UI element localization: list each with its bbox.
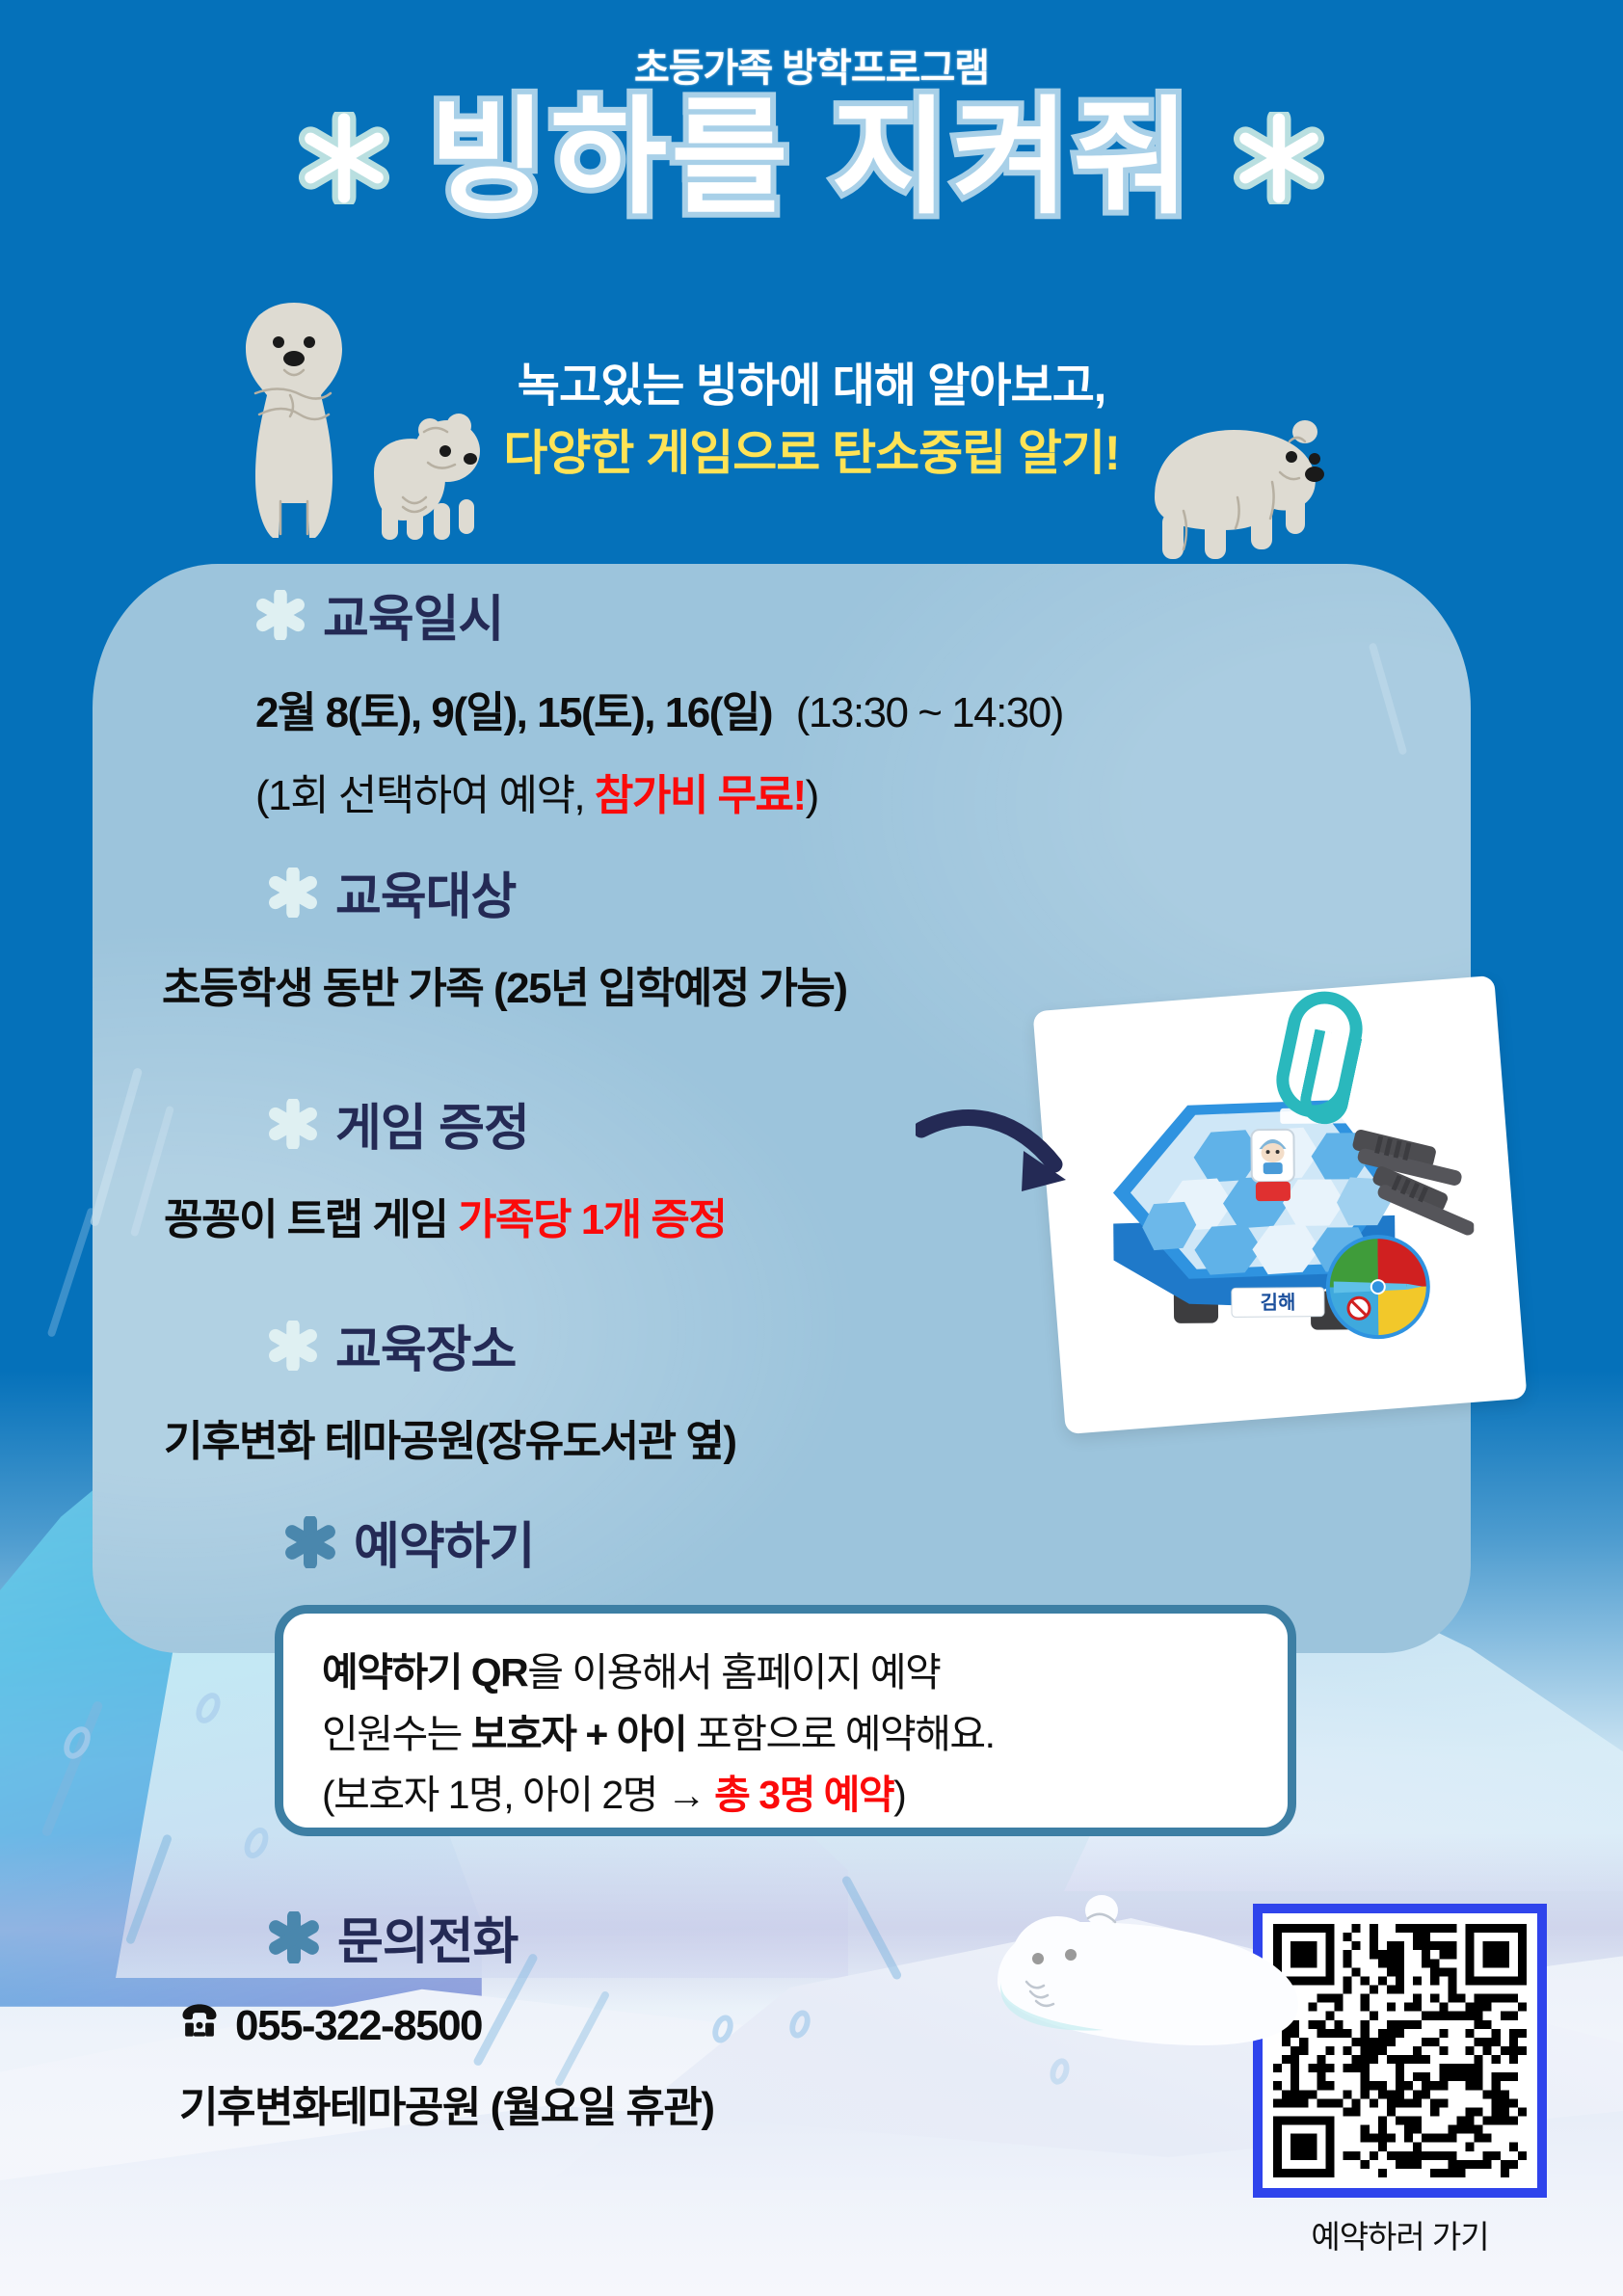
snowflake-icon: [268, 1911, 320, 1963]
snow-bubble: [59, 1722, 96, 1763]
title-row: 빙하를 지켜줘: [0, 85, 1623, 231]
polar-bear-walking-icon: [1145, 405, 1338, 574]
section-contact: 문의전화 055-322-8500 기후변화테마공원 (월요일 휴관): [268, 1901, 714, 2134]
section-heading-label: 문의전화: [337, 1901, 518, 1973]
schedule-dates: 2월 8(토), 9(일), 15(토), 16(일): [255, 689, 772, 736]
reservation-line-2: 인원수는 보호자 + 아이 포함으로 예약해요.: [322, 1704, 1249, 1766]
snowflake-icon: [268, 1099, 318, 1149]
snowflake-icon: [284, 1516, 336, 1568]
phone-number[interactable]: 055-322-8500: [235, 2002, 482, 2050]
reservation-example-prefix: (보호자 1명, 아이 2명 →: [322, 1773, 714, 1817]
snowflake-icon: [268, 1321, 318, 1371]
gift-quantity: 가족당 1개 증정: [458, 1196, 726, 1243]
qr-code-image[interactable]: [1273, 1924, 1527, 2177]
section-heading-label: 예약하기: [354, 1506, 534, 1578]
schedule-time: (13:30 ~ 14:30): [796, 689, 1063, 736]
reservation-line-3: (보호자 1명, 아이 2명 → 총 3명 예약): [322, 1765, 1249, 1827]
snow-streak: [840, 1875, 902, 1981]
section-heading-label: 교육일시: [323, 578, 503, 651]
section-game-gift: 게임 증정 꽁꽁이 트랩 게임 가족당 1개 증정: [268, 1087, 726, 1246]
snowflake-icon: [298, 112, 390, 204]
phone-row: 055-322-8500: [179, 2000, 714, 2051]
section-location: 교육장소 기후변화 테마공원(장유도서관 옆): [268, 1309, 735, 1468]
schedule-dates-line: 2월 8(토), 9(일), 15(토), 16(일) (13:30 ~ 14:…: [255, 678, 1063, 739]
section-schedule: 교육일시 2월 8(토), 9(일), 15(토), 16(일) (13:30 …: [255, 578, 1063, 822]
section-heading-row: 문의전화: [268, 1901, 714, 1973]
section-reservation: 예약하기: [284, 1506, 534, 1578]
polar-bear-cub-icon: [364, 403, 490, 552]
section-heading-label: 교육장소: [335, 1309, 516, 1381]
section-heading-row: 게임 증정: [268, 1087, 726, 1160]
section-heading-row: 교육일시: [255, 578, 1063, 651]
page-title: 빙하를 지켜줘: [429, 85, 1193, 231]
gift-name: 꽁꽁이 트랩 게임: [164, 1196, 458, 1243]
snow-streak: [47, 1207, 96, 1338]
snow-bubble: [785, 2007, 813, 2041]
polar-bear-resting-icon: [988, 1889, 1306, 2116]
schedule-note-suffix: ): [806, 772, 818, 819]
curved-arrow-icon: [916, 1108, 1099, 1229]
snow-streak: [125, 1833, 173, 1945]
audience-text: 초등학생 동반 가족 (25년 입학예정 가능): [162, 953, 847, 1015]
telephone-icon: [179, 2000, 220, 2051]
schedule-note-prefix: (1회 선택하여 예약,: [255, 772, 595, 819]
snow-bubble: [191, 1689, 225, 1727]
snowflake-icon: [268, 868, 318, 918]
section-audience: 교육대상 초등학생 동반 가족 (25년 입학예정 가능): [268, 856, 847, 1015]
section-heading-row: 예약하기: [284, 1506, 534, 1578]
schedule-note-line: (1회 선택하여 예약, 참가비 무료!): [255, 761, 1063, 822]
schedule-free-badge: 참가비 무료!: [595, 772, 806, 819]
snowflake-icon: [1233, 112, 1325, 204]
polar-bear-standing-icon: [226, 299, 361, 549]
ice-breaker-board: 김해: [1087, 1058, 1476, 1379]
reservation-headcount-suffix: 포함으로 예약해요.: [686, 1712, 994, 1756]
gift-text-line: 꽁꽁이 트랩 게임 가족당 1개 증정: [164, 1185, 726, 1246]
svg-text:김해: 김해: [1260, 1292, 1295, 1314]
reservation-headcount-emph: 보호자 + 아이: [471, 1712, 686, 1756]
reservation-line-1: 예약하기 QR을 이용해서 홈페이지 예약: [322, 1642, 1249, 1704]
reservation-qr-label: 예약하기 QR: [322, 1650, 527, 1695]
game-photo: 김해: [1032, 975, 1527, 1434]
poster-root: 초등가족 방학프로그램 빙하를 지켜줘: [0, 0, 1623, 2296]
snow-bubble: [240, 1824, 274, 1862]
location-text: 기후변화 테마공원(장유도서관 옆): [164, 1406, 735, 1468]
contact-hours: 기후변화테마공원 (월요일 휴관): [179, 2072, 714, 2134]
reservation-info-box: 예약하기 QR을 이용해서 홈페이지 예약 인원수는 보호자 + 아이 포함으로…: [275, 1605, 1296, 1836]
section-heading-row: 교육장소: [268, 1309, 735, 1381]
section-heading-row: 교육대상: [268, 856, 847, 928]
reservation-example-total: 총 3명 예약: [714, 1773, 893, 1817]
section-heading-label: 교육대상: [335, 856, 516, 928]
reservation-line-1-rest: 을 이용해서 홈페이지 예약: [527, 1650, 940, 1695]
snowflake-icon: [255, 590, 306, 640]
reservation-example-suffix: ): [893, 1773, 905, 1817]
qr-caption: 예약하러 가기: [1253, 2211, 1547, 2257]
snow-streak: [40, 1700, 103, 1838]
reservation-headcount-prefix: 인원수는: [322, 1712, 471, 1756]
section-heading-label: 게임 증정: [335, 1087, 529, 1160]
